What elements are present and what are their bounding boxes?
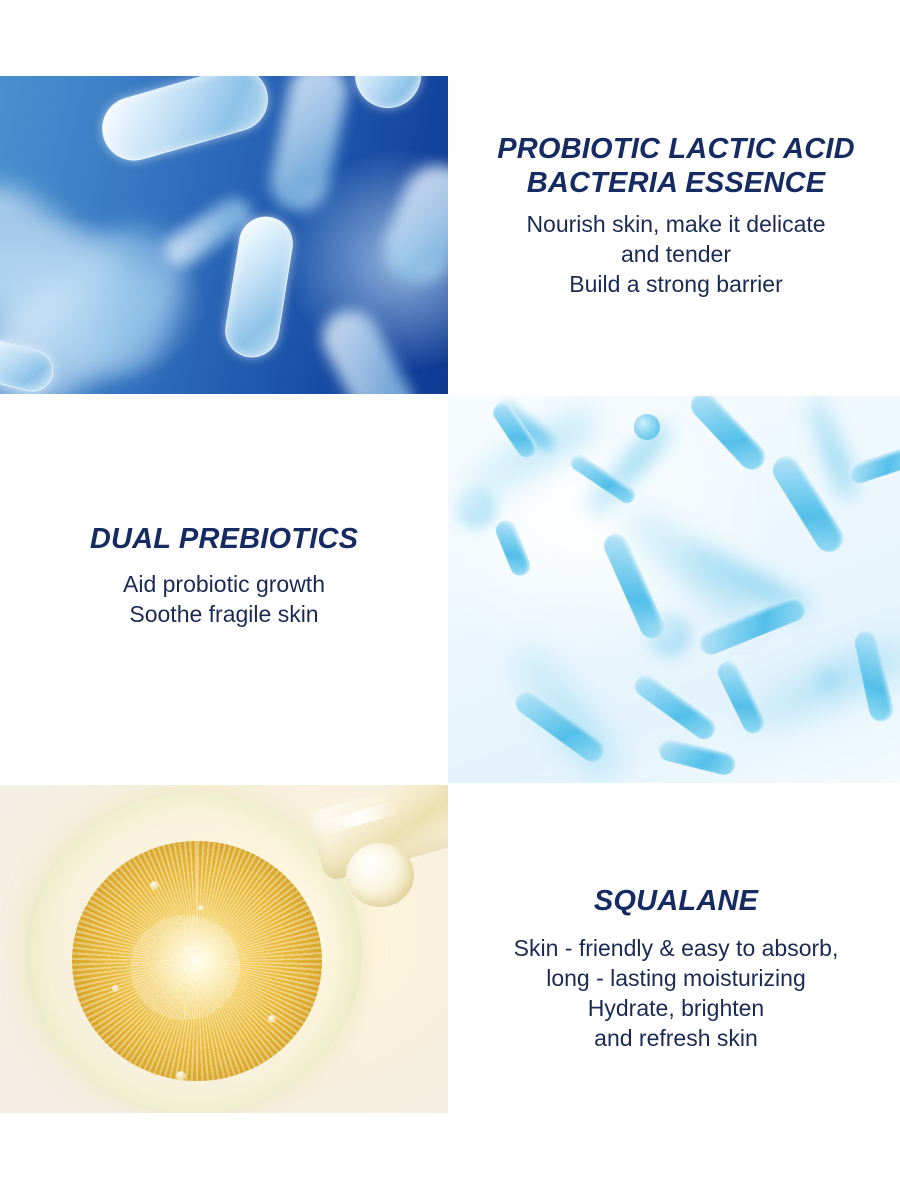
dropper-bulb (346, 843, 414, 907)
probiotic-heading-line-1: PROBIOTIC LACTIC ACID (497, 133, 855, 165)
squalane-text-block: SQUALANE Skin - friendly & easy to absor… (452, 884, 900, 1114)
blue-bacteria-photo (0, 76, 448, 394)
oil-bubble (198, 905, 204, 911)
bacteria-shape (814, 666, 838, 690)
golden-oil-dish-photo (0, 785, 448, 1113)
dual-prebiotics-body: Aid probiotic growth Soothe fragile skin (123, 570, 325, 630)
bacteria-shape (631, 670, 720, 743)
bacteria-shape (313, 300, 423, 394)
bacteria-shape (221, 213, 297, 362)
squalane-body-line-4: and refresh skin (594, 1025, 758, 1051)
bacteria-shape (634, 414, 660, 440)
probiotic-heading: PROBIOTIC LACTIC ACID BACTERIA ESSENCE (497, 132, 855, 200)
dual-prebiotics-heading: DUAL PREBIOTICS (90, 522, 358, 556)
bacteria-shape (847, 446, 900, 485)
bacteria-shape (686, 396, 770, 475)
dual-prebiotics-body-line-1: Aid probiotic growth (123, 571, 325, 597)
probiotic-heading-line-2: BACTERIA ESSENCE (527, 167, 826, 199)
squalane-body-line-3: Hydrate, brighten (588, 995, 764, 1021)
bacteria-shape (374, 155, 448, 292)
bacteria-shape (656, 737, 737, 777)
squalane-body: Skin - friendly & easy to absorb, long -… (514, 934, 839, 1054)
probiotic-body-line-1: Nourish skin, make it delicate (526, 211, 825, 237)
oil-bubble (176, 1071, 186, 1081)
light-blue-bacteria-photo (448, 396, 900, 783)
probiotic-text-block: PROBIOTIC LACTIC ACID BACTERIA ESSENCE N… (452, 132, 900, 372)
squalane-body-line-2: long - lasting moisturizing (546, 965, 806, 991)
oil-bubble (112, 985, 119, 992)
bacteria-shape (94, 76, 275, 168)
dual-prebiotics-body-line-2: Soothe fragile skin (129, 601, 318, 627)
probiotic-body: Nourish skin, make it delicate and tende… (526, 210, 825, 300)
probiotic-body-line-3: Build a strong barrier (569, 271, 783, 297)
oil-bubble (150, 881, 159, 890)
probiotic-body-line-2: and tender (621, 241, 731, 267)
bacteria-shape (265, 76, 353, 216)
ingredient-infographic: PROBIOTIC LACTIC ACID BACTERIA ESSENCE N… (0, 0, 900, 1199)
bacteria-shape (493, 517, 533, 578)
bacteria-shape (355, 76, 421, 108)
oil-starburst (130, 915, 240, 1020)
dual-prebiotics-text-block: DUAL PREBIOTICS Aid probiotic growth Soo… (0, 522, 448, 692)
bacteria-shape (648, 614, 690, 656)
oil-bubble (268, 1015, 276, 1023)
bacteria-shape (456, 488, 496, 528)
squalane-body-line-1: Skin - friendly & easy to absorb, (514, 935, 839, 961)
squalane-heading: SQUALANE (594, 884, 758, 918)
